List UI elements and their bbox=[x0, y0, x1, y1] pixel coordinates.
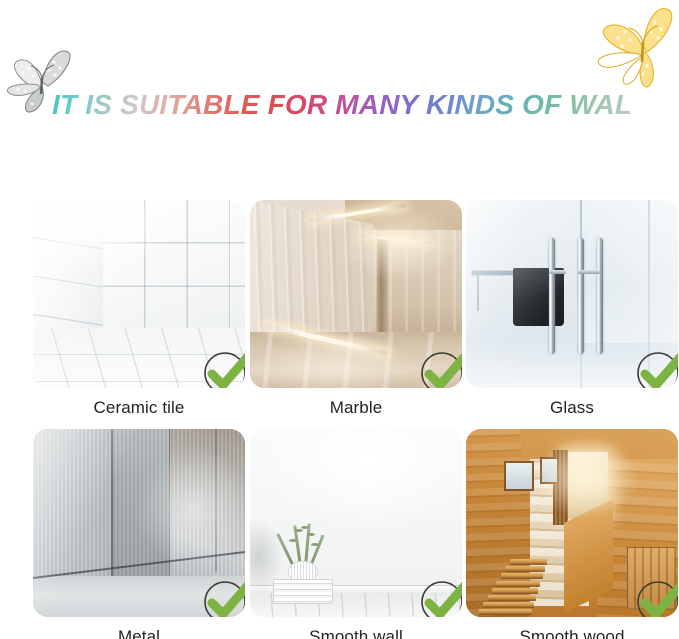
header-banner: IT IS SUITABLE FOR MANY KINDS OF WALLS bbox=[0, 0, 679, 175]
material-photo-smooth-wall bbox=[250, 429, 462, 617]
material-photo-ceramic-tile bbox=[33, 200, 245, 388]
infographic-page: IT IS SUITABLE FOR MANY KINDS OF WALLS C… bbox=[0, 0, 679, 639]
material-photo-marble bbox=[250, 200, 462, 388]
glass-illustration bbox=[466, 200, 678, 388]
gold-butterfly-icon bbox=[585, 2, 679, 98]
material-label: Marble bbox=[250, 397, 462, 419]
material-card-smooth-wall[interactable]: Smooth wall bbox=[250, 429, 462, 639]
material-card-metal[interactable]: Metal bbox=[33, 429, 245, 639]
material-card-marble[interactable]: Marble bbox=[250, 200, 462, 419]
material-label: Smooth wood bbox=[466, 626, 678, 639]
marble-illustration bbox=[250, 200, 462, 388]
material-photo-smooth-wood bbox=[466, 429, 678, 617]
material-label: Metal bbox=[33, 626, 245, 639]
page-title: IT IS SUITABLE FOR MANY KINDS OF WALLS bbox=[52, 88, 632, 122]
material-photo-glass bbox=[466, 200, 678, 388]
material-label: Ceramic tile bbox=[33, 397, 245, 419]
material-label: Glass bbox=[466, 397, 678, 419]
metal-illustration bbox=[33, 429, 245, 617]
smooth-wood-illustration bbox=[466, 429, 678, 617]
material-grid: Ceramic tile bbox=[0, 196, 679, 639]
material-card-smooth-wood[interactable]: Smooth wood bbox=[466, 429, 678, 639]
material-card-ceramic-tile[interactable]: Ceramic tile bbox=[33, 200, 245, 419]
material-label: Smooth wall bbox=[250, 626, 462, 639]
ceramic-tile-illustration bbox=[33, 200, 245, 388]
material-photo-metal bbox=[33, 429, 245, 617]
smooth-wall-illustration bbox=[250, 429, 462, 617]
material-card-glass[interactable]: Glass bbox=[466, 200, 678, 419]
